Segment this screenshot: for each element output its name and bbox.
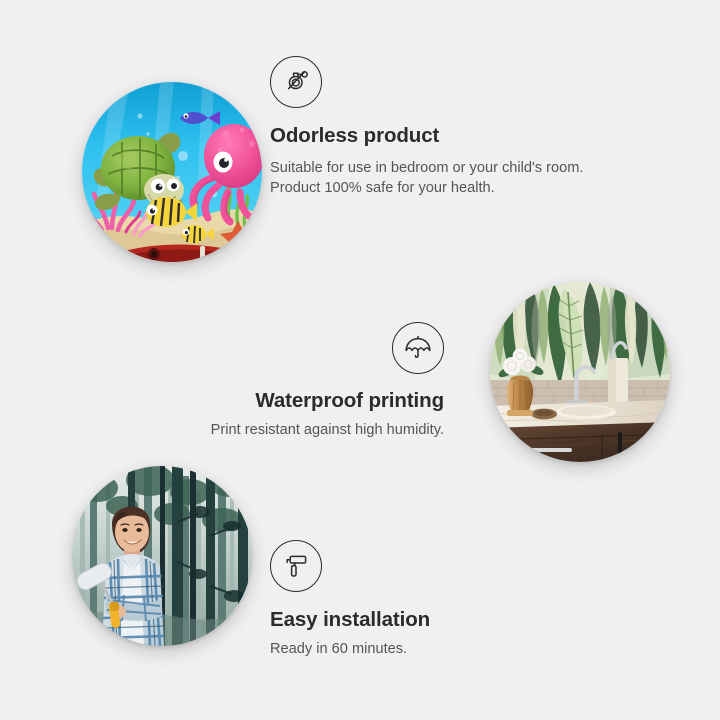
feature-title: Easy installation xyxy=(270,608,610,633)
feature-title: Odorless product xyxy=(270,124,610,149)
feature-title: Waterproof printing xyxy=(104,389,444,414)
underwater-cartoon-mural-photo xyxy=(82,82,262,262)
no-odor-perfume-bottle-icon xyxy=(270,56,322,108)
feature-description: Suitable for use in bedroom or your chil… xyxy=(270,158,610,199)
feature-easy-installation: Easy installation Ready in 60 minutes. xyxy=(270,540,610,659)
product-feature-infographic: Odorless product Suitable for use in bed… xyxy=(0,0,720,720)
umbrella-icon xyxy=(392,322,444,374)
paint-roller-icon xyxy=(270,540,322,592)
feature-description: Print resistant against high humidity. xyxy=(104,420,444,441)
bathroom-tropical-wallpaper-photo xyxy=(490,282,670,462)
woman-with-paint-roller-forest-photo xyxy=(72,466,252,646)
feature-waterproof-printing: Waterproof printing Print resistant agai… xyxy=(104,322,444,440)
feature-odorless-product: Odorless product Suitable for use in bed… xyxy=(270,56,610,199)
feature-description: Ready in 60 minutes. xyxy=(270,639,610,660)
